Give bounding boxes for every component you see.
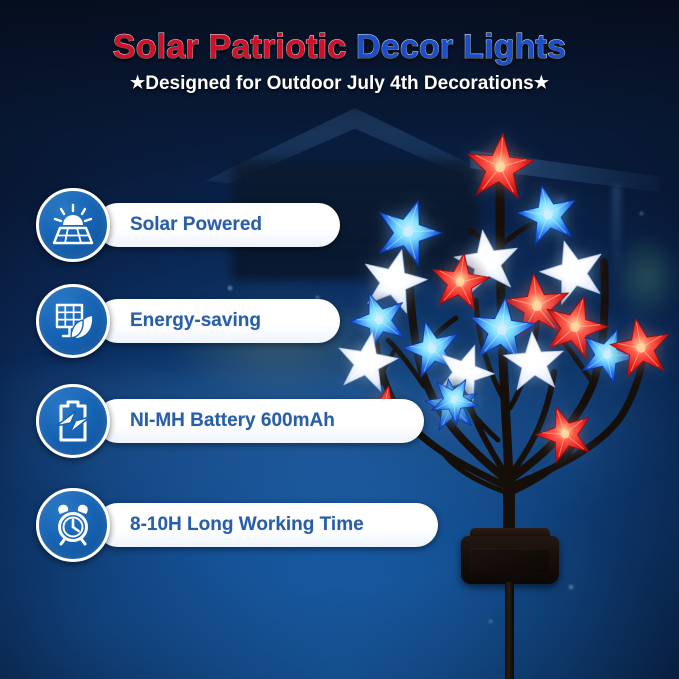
feature-pill: Solar Powered	[96, 203, 340, 247]
feature-pill: Energy-saving	[96, 299, 340, 343]
feature-label: NI-MH Battery 600mAh	[130, 410, 335, 432]
feature-label: 8-10H Long Working Time	[130, 514, 364, 536]
feature-label: Solar Powered	[130, 214, 262, 236]
feature-badge-solar-powered: Solar Powered	[36, 188, 340, 262]
feature-label: Energy-saving	[130, 310, 261, 332]
product-marketing-image: Solar Patriotic Decor Lights ★Designed f…	[0, 0, 679, 679]
feature-badge-list: Solar Powered Energy-saving NI-MH Batter…	[0, 0, 679, 679]
battery-bolt-icon	[36, 384, 110, 458]
alarm-clock-icon	[36, 488, 110, 562]
feature-badge-8-10h-long-working-time: 8-10H Long Working Time	[36, 488, 438, 562]
feature-badge-ni-mh-battery-600mah: NI-MH Battery 600mAh	[36, 384, 424, 458]
feature-pill: 8-10H Long Working Time	[96, 503, 438, 547]
solar-panel-leaf-icon	[36, 284, 110, 358]
feature-pill: NI-MH Battery 600mAh	[96, 399, 424, 443]
solar-panel-sun-icon	[36, 188, 110, 262]
feature-badge-energy-saving: Energy-saving	[36, 284, 340, 358]
